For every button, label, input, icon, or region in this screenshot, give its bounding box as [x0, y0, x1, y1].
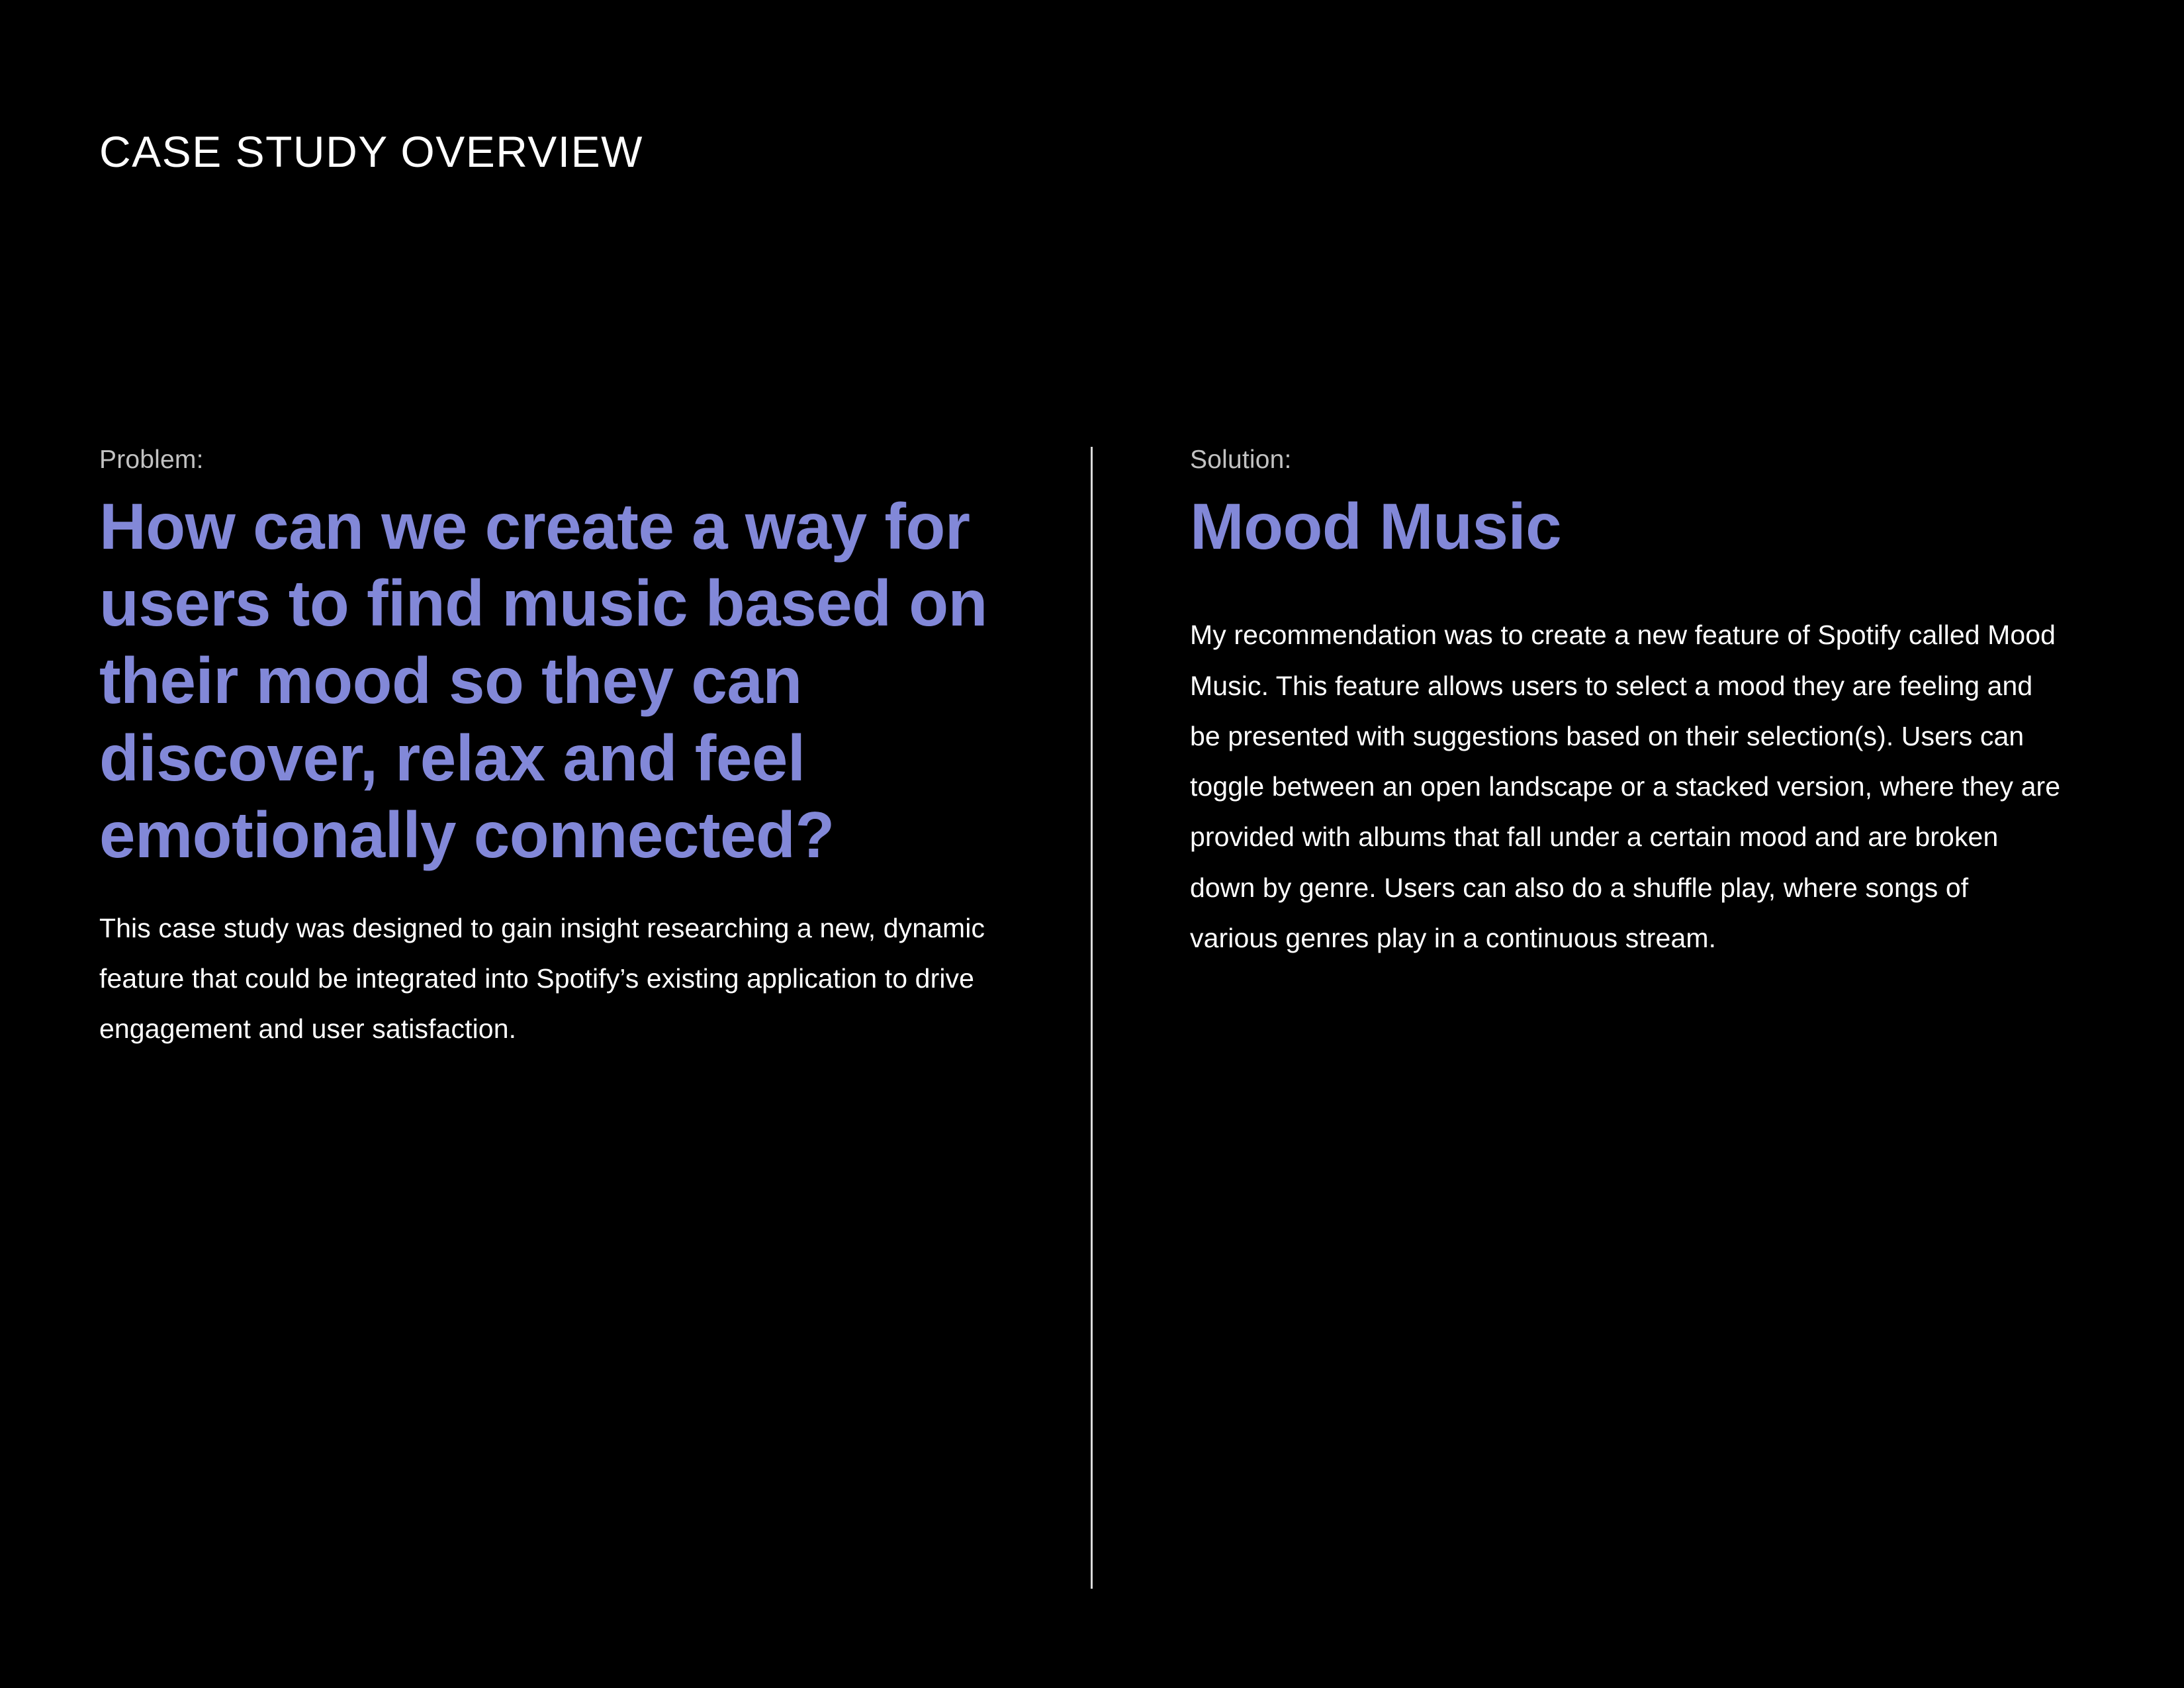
page-title: CASE STUDY OVERVIEW	[99, 127, 643, 177]
problem-description-paragraph: This case study was designed to gain ins…	[99, 903, 1032, 1055]
problem-column: Problem: How can we create a way for use…	[99, 445, 1032, 1055]
problem-label: Problem:	[99, 445, 1032, 476]
problem-statement-heading: How can we create a way for users to fin…	[99, 488, 1032, 874]
column-divider	[1091, 447, 1093, 1589]
case-study-overview-slide: CASE STUDY OVERVIEW Problem: How can we …	[0, 0, 2184, 1688]
solution-name-heading: Mood Music	[1190, 488, 2064, 565]
solution-column: Solution: Mood Music My recommendation w…	[1190, 445, 2064, 963]
solution-label: Solution:	[1190, 445, 2064, 476]
solution-description-paragraph: My recommendation was to create a new fe…	[1190, 610, 2064, 963]
